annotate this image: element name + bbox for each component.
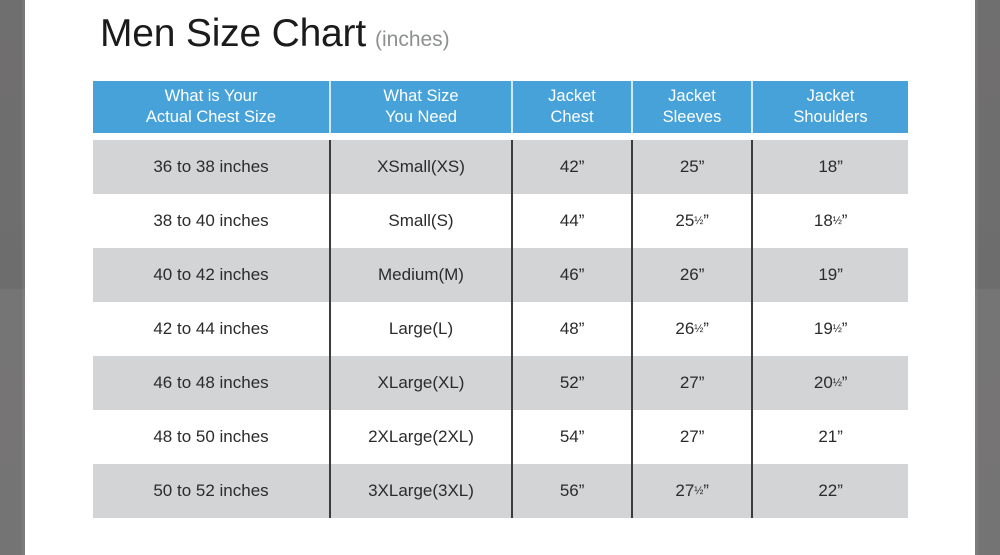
- cell-jacket-sleeves: 26”: [632, 248, 752, 302]
- cell-jacket-sleeves: 27”: [632, 410, 752, 464]
- cell-actual-chest-size: 42 to 44 inches: [93, 302, 330, 356]
- chart-page: Men Size Chart (inches) What is Your Act…: [25, 0, 975, 555]
- column-header-jacket-chest: Jacket Chest: [512, 81, 632, 133]
- cell-jacket-shoulders: 18”: [752, 140, 908, 194]
- column-header-line2: Shoulders: [793, 108, 867, 126]
- header-body-spacer: [93, 133, 908, 140]
- cell-jacket-chest: 42”: [512, 140, 632, 194]
- column-header-line1: Jacket: [668, 87, 716, 105]
- table-row: 36 to 38 inchesXSmall(XS)42”25”18”: [93, 140, 908, 194]
- table-row: 50 to 52 inches3XLarge(3XL)56”27½”22”: [93, 464, 908, 518]
- column-header-line1: Jacket: [548, 87, 596, 105]
- table-body: 36 to 38 inchesXSmall(XS)42”25”18”38 to …: [93, 133, 908, 518]
- cell-actual-chest-size: 38 to 40 inches: [93, 194, 330, 248]
- table-row: 38 to 40 inchesSmall(S)44”25½”18½”: [93, 194, 908, 248]
- table-header: What is Your Actual Chest Size What Size…: [93, 81, 908, 133]
- cell-jacket-chest: 54”: [512, 410, 632, 464]
- column-header-line1: What Size: [383, 87, 458, 105]
- column-header-jacket-shoulders: Jacket Shoulders: [752, 81, 908, 133]
- column-header-line2: Actual Chest Size: [146, 108, 276, 126]
- cell-jacket-shoulders: 21”: [752, 410, 908, 464]
- column-header-line2: Chest: [550, 108, 593, 126]
- cell-jacket-chest: 56”: [512, 464, 632, 518]
- column-header-line1: What is Your: [165, 87, 258, 105]
- cell-actual-chest-size: 50 to 52 inches: [93, 464, 330, 518]
- cell-size-you-need: XLarge(XL): [330, 356, 512, 410]
- spacer-cell: [93, 133, 908, 140]
- cell-jacket-sleeves: 27½”: [632, 464, 752, 518]
- cell-jacket-chest: 44”: [512, 194, 632, 248]
- cell-jacket-chest: 48”: [512, 302, 632, 356]
- cell-size-you-need: 3XLarge(3XL): [330, 464, 512, 518]
- cell-actual-chest-size: 46 to 48 inches: [93, 356, 330, 410]
- table-row: 46 to 48 inchesXLarge(XL)52”27”20½”: [93, 356, 908, 410]
- column-header-line2: Sleeves: [663, 108, 722, 126]
- cell-size-you-need: Small(S): [330, 194, 512, 248]
- letterbox-bar-right: [975, 0, 1000, 555]
- cell-jacket-chest: 46”: [512, 248, 632, 302]
- page-title: Men Size Chart (inches): [100, 14, 450, 53]
- table-row: 42 to 44 inchesLarge(L)48”26½”19½”: [93, 302, 908, 356]
- cell-size-you-need: Large(L): [330, 302, 512, 356]
- size-chart-table: What is Your Actual Chest Size What Size…: [93, 81, 908, 518]
- column-header-size-you-need: What Size You Need: [330, 81, 512, 133]
- cell-jacket-chest: 52”: [512, 356, 632, 410]
- cell-actual-chest-size: 36 to 38 inches: [93, 140, 330, 194]
- column-header-line2: You Need: [385, 108, 457, 126]
- cell-actual-chest-size: 48 to 50 inches: [93, 410, 330, 464]
- page-title-main: Men Size Chart: [100, 14, 366, 53]
- cell-jacket-sleeves: 25”: [632, 140, 752, 194]
- cell-jacket-sleeves: 27”: [632, 356, 752, 410]
- cell-jacket-shoulders: 19½”: [752, 302, 908, 356]
- letterbox-bar-left: [0, 0, 25, 555]
- column-header-jacket-sleeves: Jacket Sleeves: [632, 81, 752, 133]
- cell-jacket-shoulders: 18½”: [752, 194, 908, 248]
- cell-size-you-need: XSmall(XS): [330, 140, 512, 194]
- cell-size-you-need: 2XLarge(2XL): [330, 410, 512, 464]
- cell-actual-chest-size: 40 to 42 inches: [93, 248, 330, 302]
- column-header-line1: Jacket: [807, 87, 855, 105]
- table-row: 48 to 50 inches2XLarge(2XL)54”27”21”: [93, 410, 908, 464]
- cell-jacket-shoulders: 22”: [752, 464, 908, 518]
- page-title-unit: (inches): [375, 29, 450, 50]
- cell-jacket-sleeves: 26½”: [632, 302, 752, 356]
- cell-jacket-sleeves: 25½”: [632, 194, 752, 248]
- cell-jacket-shoulders: 19”: [752, 248, 908, 302]
- column-header-actual-chest-size: What is Your Actual Chest Size: [93, 81, 330, 133]
- table-header-row: What is Your Actual Chest Size What Size…: [93, 81, 908, 133]
- table-row: 40 to 42 inchesMedium(M)46”26”19”: [93, 248, 908, 302]
- cell-jacket-shoulders: 20½”: [752, 356, 908, 410]
- cell-size-you-need: Medium(M): [330, 248, 512, 302]
